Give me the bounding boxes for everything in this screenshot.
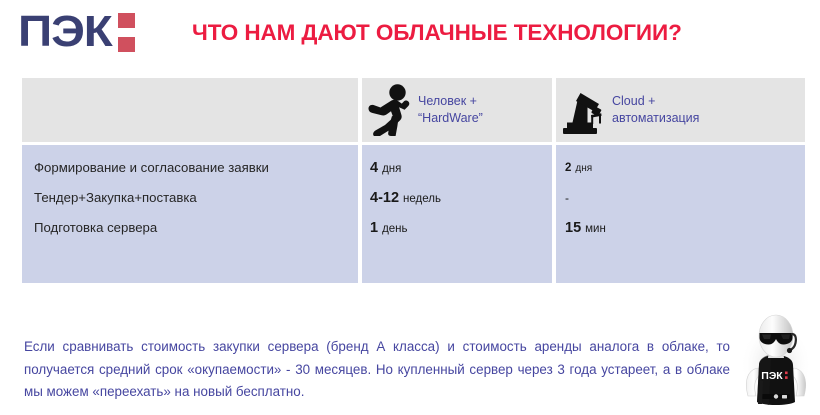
header-label-line1: Человек + (418, 93, 483, 110)
cell-value-number: - (565, 183, 569, 213)
cell-value-number: 4-12 (370, 183, 399, 213)
table-column-cloud: 2 дня - 15 мин (556, 145, 805, 283)
table-row: Подготовка сервера (22, 213, 358, 243)
table-row: Тендер+Закупка+поставка (22, 183, 358, 213)
table-row: 15 мин (556, 213, 805, 243)
colon-mark-icon (118, 13, 135, 53)
cell-value-unit: дня (382, 154, 401, 183)
cell-value-unit: дня (575, 154, 592, 183)
robot-arm-icon (556, 85, 612, 135)
cell-value-unit: недель (403, 184, 441, 213)
brand-logo-text: ПЭК (18, 11, 112, 53)
header-label-line2: автоматизация (612, 110, 699, 127)
cell-value-number: 2 (565, 153, 571, 183)
cell-value-number: 1 (370, 213, 378, 243)
page-title: ЧТО НАМ ДАЮТ ОБЛАЧНЫЕ ТЕХНОЛОГИИ? (192, 19, 682, 47)
table-row: 1 день (362, 213, 552, 243)
row-label: Подготовка сервера (34, 213, 157, 243)
table-header-label-cloud: Cloud + автоматизация (612, 93, 699, 127)
table-column-human: 4 дня 4-12 недель 1 день (362, 145, 552, 283)
table-header-cell-cloud: Cloud + автоматизация (556, 78, 805, 142)
row-label: Формирование и согласование заявки (34, 153, 269, 183)
running-person-icon (362, 84, 418, 136)
table-body: Формирование и согласование заявки Тенде… (22, 145, 805, 283)
brand-logo: ПЭК (18, 11, 135, 53)
slide-header: ПЭК ЧТО НАМ ДАЮТ ОБЛАЧНЫЕ ТЕХНОЛОГИИ? (0, 0, 820, 70)
cell-value-unit: мин (585, 214, 606, 243)
pek-mascot-character: ПЭК (738, 310, 814, 410)
table-row: 4-12 недель (362, 183, 552, 213)
table-header-row: Человек + “HardWare” Cloud + ав (22, 78, 805, 142)
cell-value-unit: день (382, 214, 407, 243)
cell-value-number: 15 (565, 213, 581, 243)
row-label: Тендер+Закупка+поставка (34, 183, 197, 213)
table-row: Формирование и согласование заявки (22, 153, 358, 183)
header-label-line1: Cloud + (612, 93, 699, 110)
table-row: - (556, 183, 805, 213)
comparison-table: Человек + “HardWare” Cloud + ав (22, 78, 805, 283)
table-header-cell-human: Человек + “HardWare” (362, 78, 552, 142)
footer-note: Если сравнивать стоимость закупки сервер… (24, 336, 730, 404)
table-row: 2 дня (556, 153, 805, 183)
table-row: 4 дня (362, 153, 552, 183)
table-header-cell-empty (22, 78, 358, 142)
cell-value-number: 4 (370, 153, 378, 183)
mascot-shirt-logo: ПЭК (761, 370, 783, 382)
table-header-label-human: Человек + “HardWare” (418, 93, 483, 127)
header-label-line2: “HardWare” (418, 110, 483, 127)
table-column-tasks: Формирование и согласование заявки Тенде… (22, 145, 358, 283)
